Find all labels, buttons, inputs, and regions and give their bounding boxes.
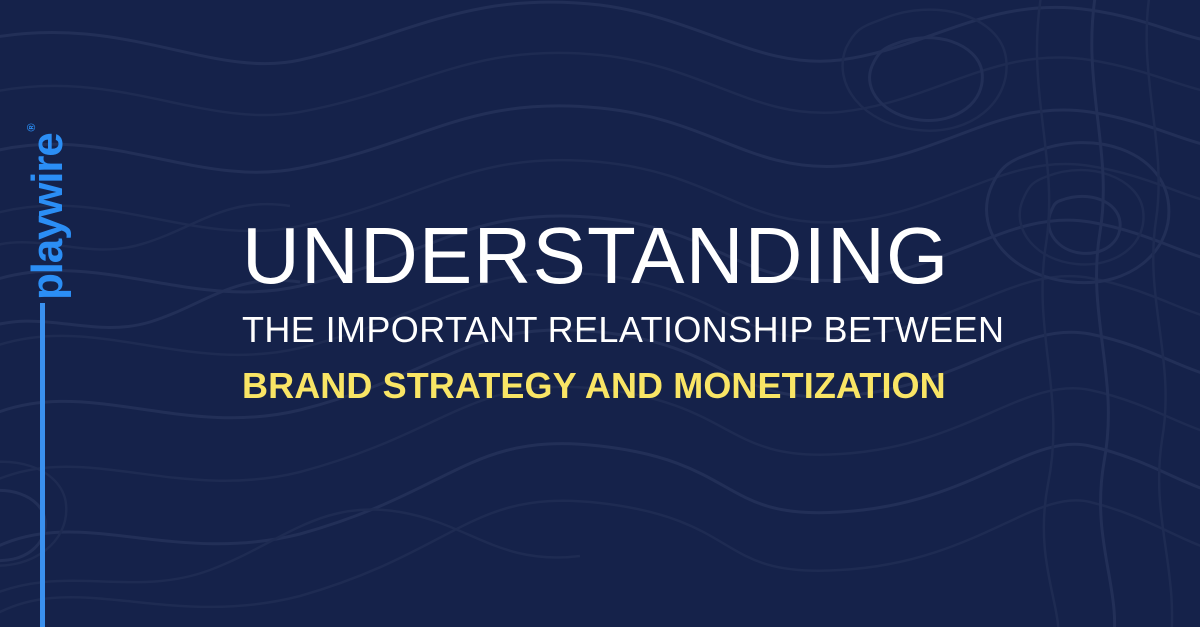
registered-trademark-icon: ® <box>27 123 38 131</box>
brand-vertical-rule <box>40 303 45 627</box>
banner-graphic: playwire ® UNDERSTANDING THE IMPORTANT R… <box>0 0 1200 627</box>
headline-subtitle: THE IMPORTANT RELATIONSHIP BETWEEN <box>242 312 1002 348</box>
playwire-logo[interactable]: playwire ® <box>26 80 70 300</box>
playwire-logo-wordmark: playwire <box>26 134 70 301</box>
headline-primary: UNDERSTANDING <box>242 216 1002 296</box>
brand-logo-block: playwire ® <box>0 0 110 627</box>
headline-block: UNDERSTANDING THE IMPORTANT RELATIONSHIP… <box>242 216 1002 404</box>
headline-accent: BRAND STRATEGY AND MONETIZATION <box>242 368 1002 404</box>
